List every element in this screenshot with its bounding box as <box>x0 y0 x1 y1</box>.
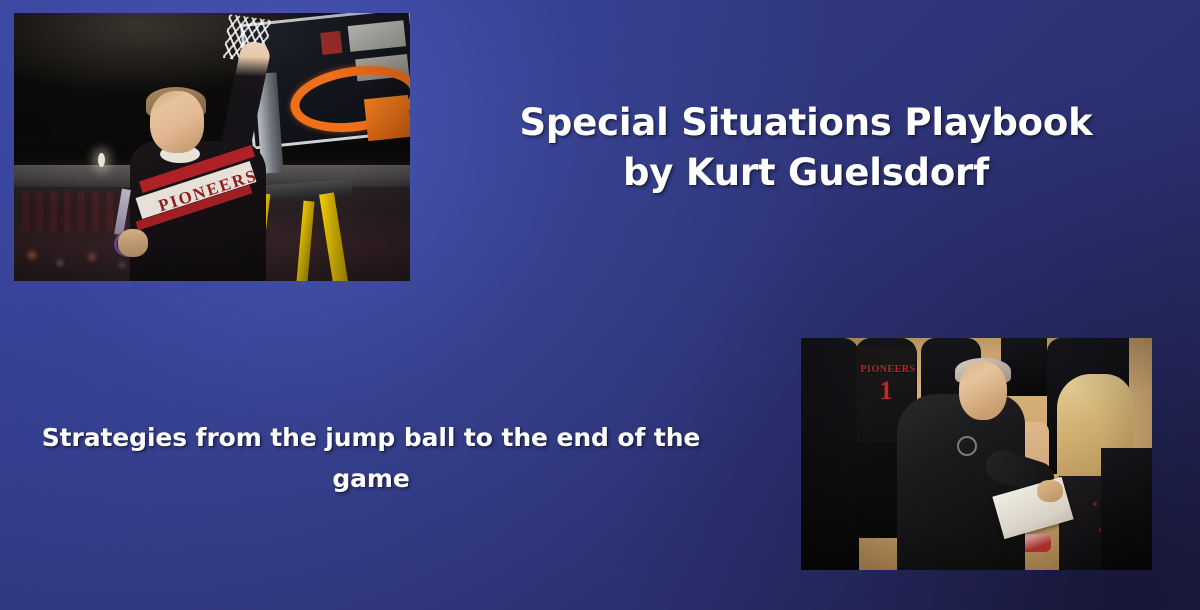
coach-hand <box>118 229 148 257</box>
player-jersey-number: 1 <box>873 376 899 406</box>
subtitle-line-1: Strategies from the jump ball to the end… <box>18 417 724 458</box>
presentation-slide: PIONEERS Special Situations Playbook by … <box>0 0 1200 610</box>
arena-signage-3 <box>320 31 342 55</box>
rim-mount-plate <box>364 95 410 141</box>
coach-head <box>150 91 204 153</box>
arena-signage <box>348 20 406 52</box>
coach-drawing-hand <box>1037 480 1063 502</box>
player-background-6 <box>1101 448 1152 570</box>
slide-title: Special Situations Playbook by Kurt Guel… <box>450 98 1162 198</box>
court-scene: PIONEERS 1 <box>801 338 1152 570</box>
photo-coach-timeout-huddle: PIONEERS 1 <box>801 338 1152 570</box>
huddle-jersey-team-name: PIONEERS <box>855 364 921 375</box>
arena-light <box>98 153 105 167</box>
slide-subtitle: Strategies from the jump ball to the end… <box>18 417 724 499</box>
subtitle-line-2: game <box>18 458 724 499</box>
coach-huddle-head <box>959 362 1007 420</box>
photo-coach-cutting-net: PIONEERS <box>14 13 410 281</box>
player-background-1 <box>801 338 859 570</box>
title-line-2: by Kurt Guelsdorf <box>450 148 1162 198</box>
arena-scene: PIONEERS <box>14 13 410 281</box>
title-line-1: Special Situations Playbook <box>450 98 1162 148</box>
coach-jacket-logo <box>957 436 977 456</box>
